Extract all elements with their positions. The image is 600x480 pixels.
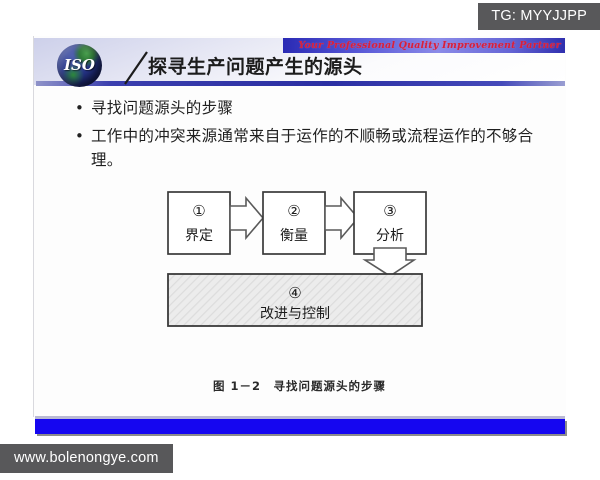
bullet-marker-icon: • [75, 96, 91, 120]
header-tagline: Your Professional Quality Improvement Pa… [298, 38, 561, 53]
iso-logo-text: ISO [57, 56, 102, 74]
site-watermark-badge: www.bolenongye.com [0, 444, 173, 473]
header-underline-bar [36, 81, 565, 86]
list-item: • 工作中的冲突来源通常来自于运作的不顺畅或流程运作的不够合理。 [75, 124, 535, 172]
page-title: 探寻生产问题产生的源头 [148, 52, 363, 79]
bullet-text: 工作中的冲突来源通常来自于运作的不顺畅或流程运作的不够合理。 [91, 124, 535, 172]
process-box-4-number: ④ [288, 284, 301, 302]
figure-caption: 图 1－2 寻找问题源头的步骤 [33, 378, 566, 394]
process-box-4-label: 改进与控制 [260, 306, 330, 322]
slide-left-rule [33, 36, 34, 417]
slide-canvas: Your Professional Quality Improvement Pa… [0, 0, 600, 480]
process-box-1-label: 界定 [185, 228, 213, 244]
iso-globe-icon: ISO [57, 44, 102, 87]
process-arrow-2-to-3 [325, 198, 358, 238]
process-arrow-1-to-2 [230, 198, 263, 238]
process-box-3-number: ③ [383, 202, 396, 220]
title-slash-icon [123, 50, 149, 86]
header-tagline-strip: Your Professional Quality Improvement Pa… [283, 38, 565, 53]
bullet-marker-icon: • [75, 124, 91, 148]
process-box-2-number: ② [287, 202, 300, 220]
process-flow-diagram: ① 界定 ② 衡量 ③ 分析 ④ 改进与控制 [150, 180, 450, 350]
process-box-3-label: 分析 [376, 228, 404, 244]
bullet-text: 寻找问题源头的步骤 [91, 96, 535, 120]
bottom-accent-bar [35, 419, 565, 434]
process-box-1-number: ① [192, 202, 205, 220]
telegram-watermark-badge: TG: MYYJJPP [478, 3, 600, 30]
process-box-2-label: 衡量 [280, 228, 308, 244]
list-item: • 寻找问题源头的步骤 [75, 96, 535, 120]
bullet-list: • 寻找问题源头的步骤 • 工作中的冲突来源通常来自于运作的不顺畅或流程运作的不… [75, 96, 535, 176]
